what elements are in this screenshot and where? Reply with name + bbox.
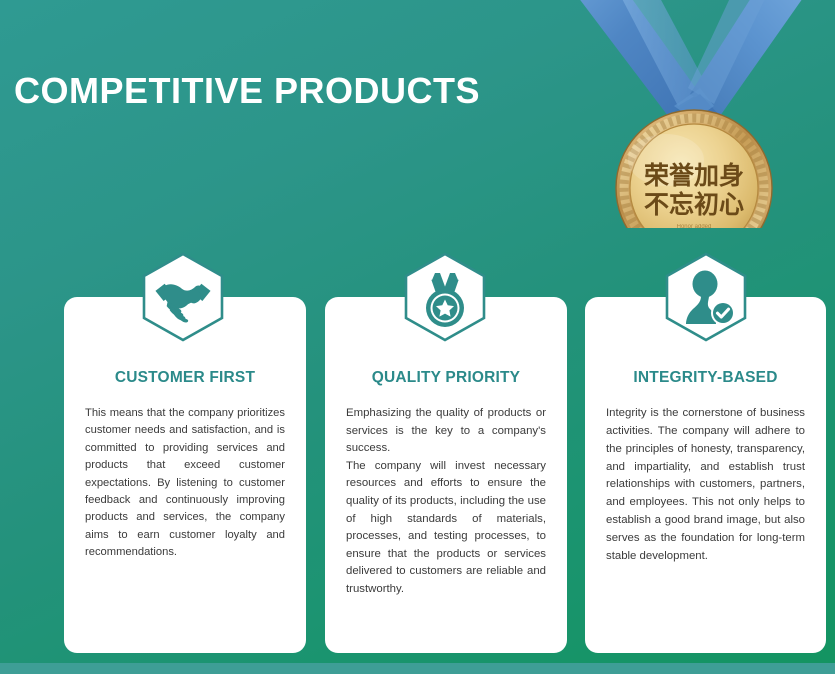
card-integrity-based: INTEGRITY-BASED Integrity is the corners… [585, 297, 826, 653]
handshake-icon [137, 251, 229, 343]
card-body: Emphasizing the quality of products or s… [346, 405, 546, 599]
card-heading: CUSTOMER FIRST [64, 369, 306, 387]
medal-star-icon [399, 251, 491, 343]
card-body: Integrity is the cornerstone of business… [606, 405, 805, 566]
medal-line1: 荣誉加身 [644, 161, 744, 190]
card-quality-priority: QUALITY PRIORITY Emphasizing the quality… [325, 297, 567, 653]
bottom-accent-strip [0, 663, 835, 674]
card-body: This means that the company prioritizes … [85, 405, 285, 562]
card-heading: INTEGRITY-BASED [585, 369, 826, 387]
slide-canvas: 荣誉加身 不忘初心 Honor added Never forget the o… [0, 0, 835, 674]
medal-line2: 不忘初心 [644, 190, 744, 219]
card-customer-first: CUSTOMER FIRST This means that the compa… [64, 297, 306, 653]
medal-subtitle1: Honor added [677, 224, 712, 228]
card-heading: QUALITY PRIORITY [325, 369, 567, 387]
page-title: COMPETITIVE PRODUCTS [14, 70, 480, 112]
person-verified-icon [660, 251, 752, 343]
medal-graphic: 荣誉加身 不忘初心 Honor added Never forget the o… [548, 0, 835, 228]
